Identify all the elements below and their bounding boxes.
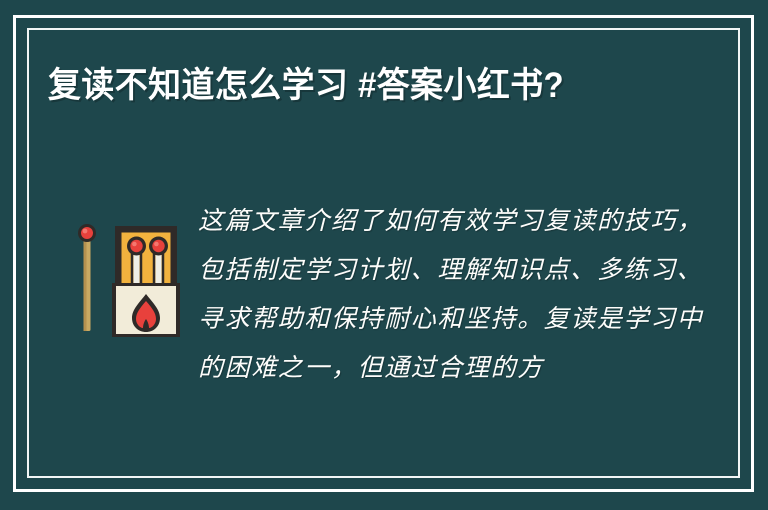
matchbox-icon bbox=[63, 218, 183, 340]
body-paragraph: 这篇文章介绍了如何有效学习复读的技巧，包括制定学习计划、理解知识点、多练习、寻求… bbox=[198, 196, 718, 392]
single-match-icon bbox=[78, 224, 96, 331]
page-title: 复读不知道怎么学习 #答案小红书? bbox=[48, 60, 668, 111]
content-row: 这篇文章介绍了如何有效学习复读的技巧，包括制定学习计划、理解知识点、多练习、寻求… bbox=[48, 196, 718, 392]
poster-card: 复读不知道怎么学习 #答案小红书? bbox=[0, 0, 768, 510]
icon-container bbox=[48, 196, 198, 340]
matchbox-body-icon bbox=[112, 226, 180, 337]
